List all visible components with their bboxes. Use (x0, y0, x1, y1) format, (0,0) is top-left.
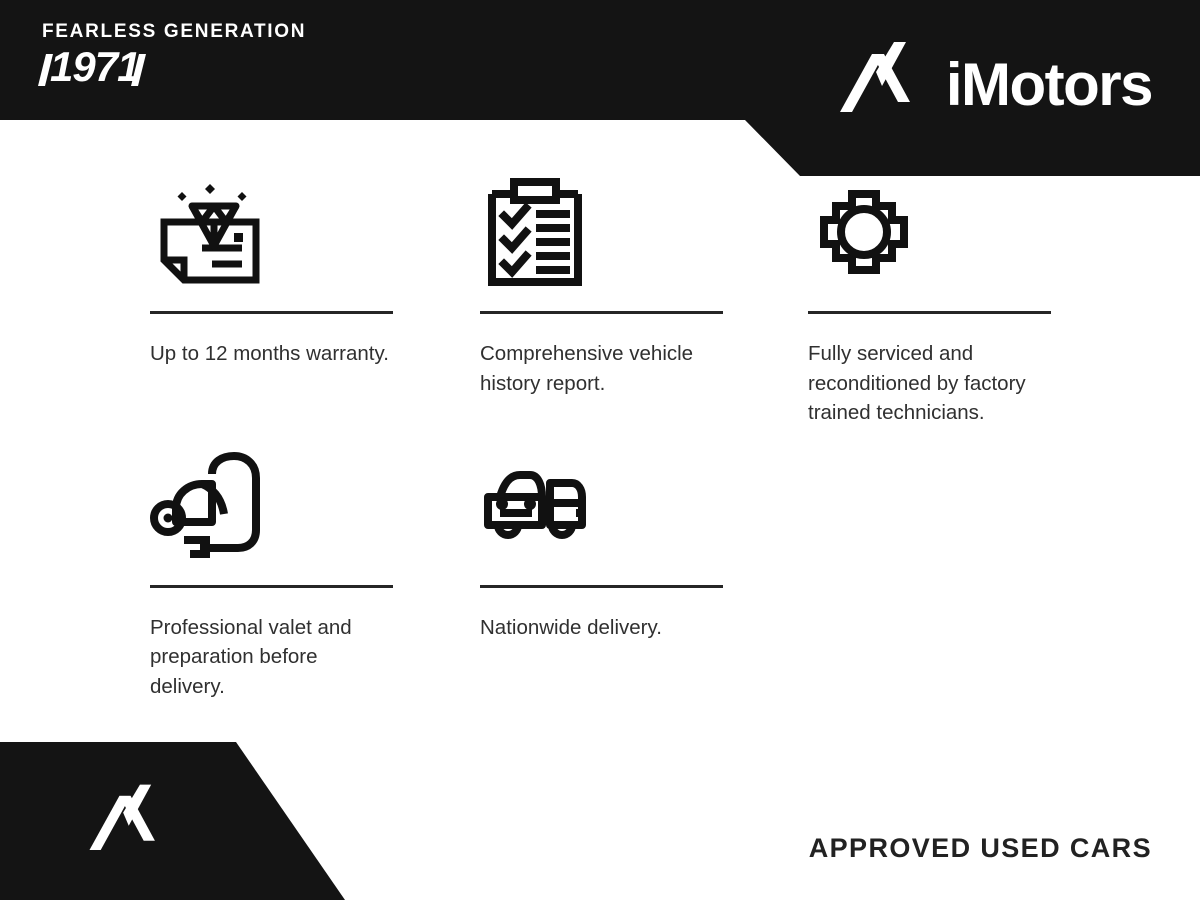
feature-label-warranty: Up to 12 months warranty. (150, 339, 390, 369)
tagline-fearless-generation: FEARLESS GENERATION (42, 22, 306, 41)
footer-tagline-approved-used-cars: APPROVED USED CARS (809, 835, 1152, 862)
imotors-logo-header[interactable]: iMotors (832, 36, 1152, 133)
feature-divider-rule (808, 311, 1051, 314)
feature-label-servicing: Fully serviced and reconditioned by fact… (808, 339, 1048, 428)
feature-divider-rule (480, 585, 723, 588)
feature-label-history-report: Comprehensive vehicle history report. (480, 339, 720, 398)
feature-card-servicing: Fully serviced and reconditioned by fact… (808, 176, 1108, 428)
year-1971-text: 1971 (50, 46, 139, 88)
warranty-certificate-diamond-icon (150, 176, 480, 288)
feature-divider-rule (480, 311, 723, 314)
features-row-1: Up to 12 months warranty. (0, 176, 1200, 428)
imotors-wordmark: iMotors (946, 55, 1152, 115)
fearless-generation-lockup: FEARLESS GENERATION 1971 (42, 22, 306, 92)
feature-card-delivery: Nationwide delivery. (480, 450, 808, 643)
feature-label-valet: Professional valet and preparation befor… (150, 613, 390, 702)
features-row-2: Professional valet and preparation befor… (0, 450, 1200, 702)
feature-card-valet: Professional valet and preparation befor… (150, 450, 480, 702)
imotors-chevron-logo-icon (832, 36, 924, 133)
imotors-chevron-logo-icon (82, 854, 168, 871)
car-transporter-truck-icon (480, 450, 808, 562)
feature-divider-rule (150, 311, 393, 314)
feature-label-delivery: Nationwide delivery. (480, 613, 720, 643)
feature-divider-rule (150, 585, 393, 588)
gear-cog-icon (808, 176, 1108, 288)
features-grid: Up to 12 months warranty. (0, 176, 1200, 701)
clipboard-checklist-icon (480, 176, 808, 288)
vacuum-cleaner-icon (150, 450, 480, 562)
imotors-logo-footer[interactable] (82, 777, 168, 872)
footer-black-shape (0, 742, 345, 900)
feature-card-warranty: Up to 12 months warranty. (150, 176, 480, 369)
feature-card-history-report: Comprehensive vehicle history report. (480, 176, 808, 398)
imotors-approved-used-cars-banner: FEARLESS GENERATION 1971 iMotors (0, 0, 1200, 900)
year-1971-logo: 1971 (42, 48, 172, 92)
